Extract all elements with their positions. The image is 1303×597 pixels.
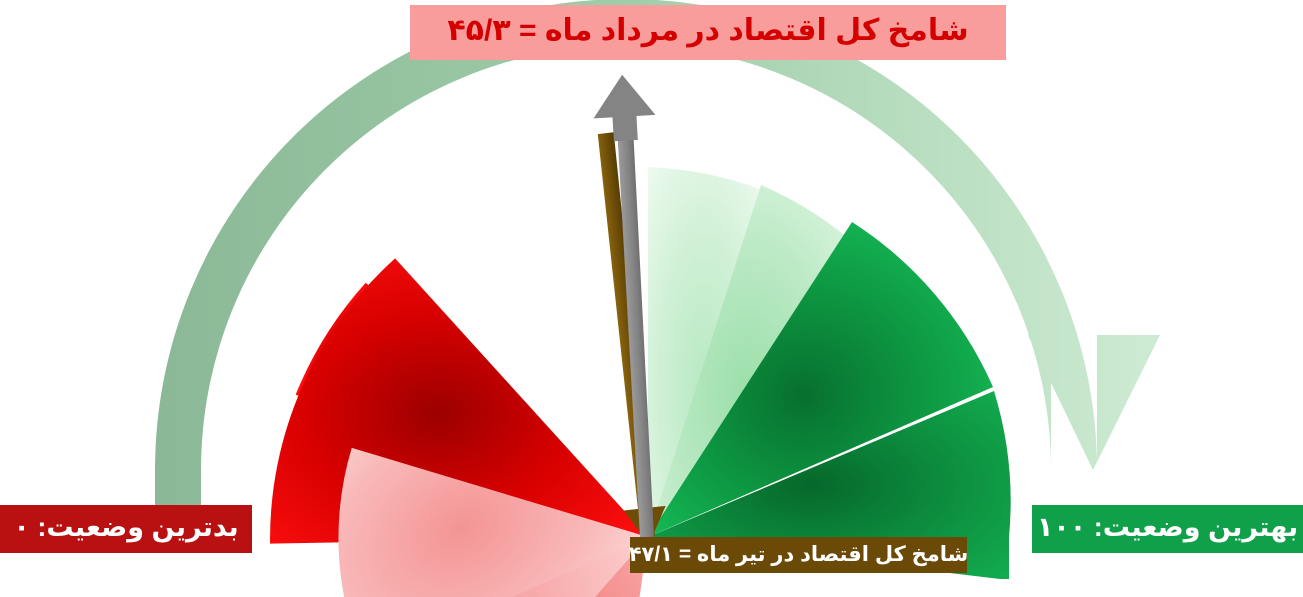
current-index-label: شامخ کل اقتصاد در مرداد ماه = ۴۵/۳ xyxy=(410,5,1006,60)
previous-index-label: شامخ کل اقتصاد در تیر ماه = ۴۷/۱ xyxy=(630,537,967,573)
gauge-infographic: شامخ کل اقتصاد در مرداد ماه = ۴۵/۳ بدتری… xyxy=(0,0,1303,597)
arrow-up-icon xyxy=(591,73,657,142)
worst-condition-label: بدترین وضعیت: ۰ xyxy=(0,505,252,553)
best-condition-label: بهترین وضعیت: ۱۰۰ xyxy=(1032,505,1303,553)
